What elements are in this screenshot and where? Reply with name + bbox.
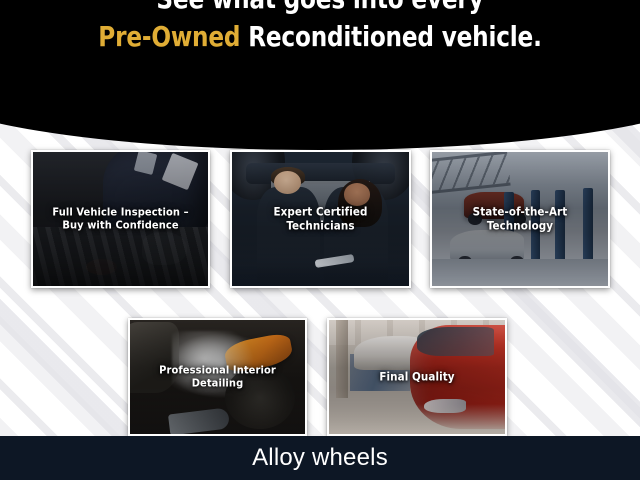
infographic-slide: See what goes into every Pre-Owned Recon… <box>0 0 640 480</box>
caption-bar: Alloy wheels <box>0 436 640 480</box>
feature-card-full-vehicle-inspection[interactable]: Full Vehicle Inspection – Buy with Confi… <box>31 150 210 288</box>
caption-text: Alloy wheels <box>252 444 388 472</box>
headline-line-1: See what goes into every <box>156 0 483 15</box>
card-label-line-2: Detailing <box>192 376 244 389</box>
header-banner: See what goes into every Pre-Owned Recon… <box>0 0 640 150</box>
card-label-full-vehicle-inspection: Full Vehicle Inspection – Buy with Confi… <box>33 205 208 231</box>
page-title: See what goes into every Pre-Owned Recon… <box>26 0 615 56</box>
feature-card-professional-interior-detailing[interactable]: Professional Interior Detailing <box>128 318 307 436</box>
card-label-line-1: Final Quality <box>379 370 454 384</box>
card-label-line-2: Buy with Confidence <box>62 218 178 231</box>
headline-line-2: Pre-Owned Reconditioned vehicle. <box>26 18 615 56</box>
feature-card-final-quality[interactable]: Final Quality <box>327 318 507 436</box>
feature-card-state-of-the-art-technology[interactable]: State-of-the-Art Technology <box>430 150 610 288</box>
card-label-final-quality: Final Quality <box>329 370 505 384</box>
header-content: See what goes into every Pre-Owned Recon… <box>0 0 640 150</box>
card-label-line-1: Full Vehicle Inspection – <box>52 205 188 218</box>
headline-line-2-rest: Reconditioned vehicle. <box>240 20 541 53</box>
feature-card-expert-certified-technicians[interactable]: Expert Certified Technicians <box>230 150 411 288</box>
headline-highlight: Pre-Owned <box>98 20 240 53</box>
card-label-professional-interior-detailing: Professional Interior Detailing <box>130 363 305 389</box>
card-label-line-1: Professional Interior <box>159 363 276 376</box>
card-label-state-of-the-art-technology: State-of-the-Art Technology <box>432 204 608 232</box>
card-label-expert-certified-technicians: Expert Certified Technicians <box>232 204 409 232</box>
card-label-line-1: Expert Certified Technicians <box>273 204 367 232</box>
card-label-line-1: State-of-the-Art Technology <box>473 204 568 232</box>
